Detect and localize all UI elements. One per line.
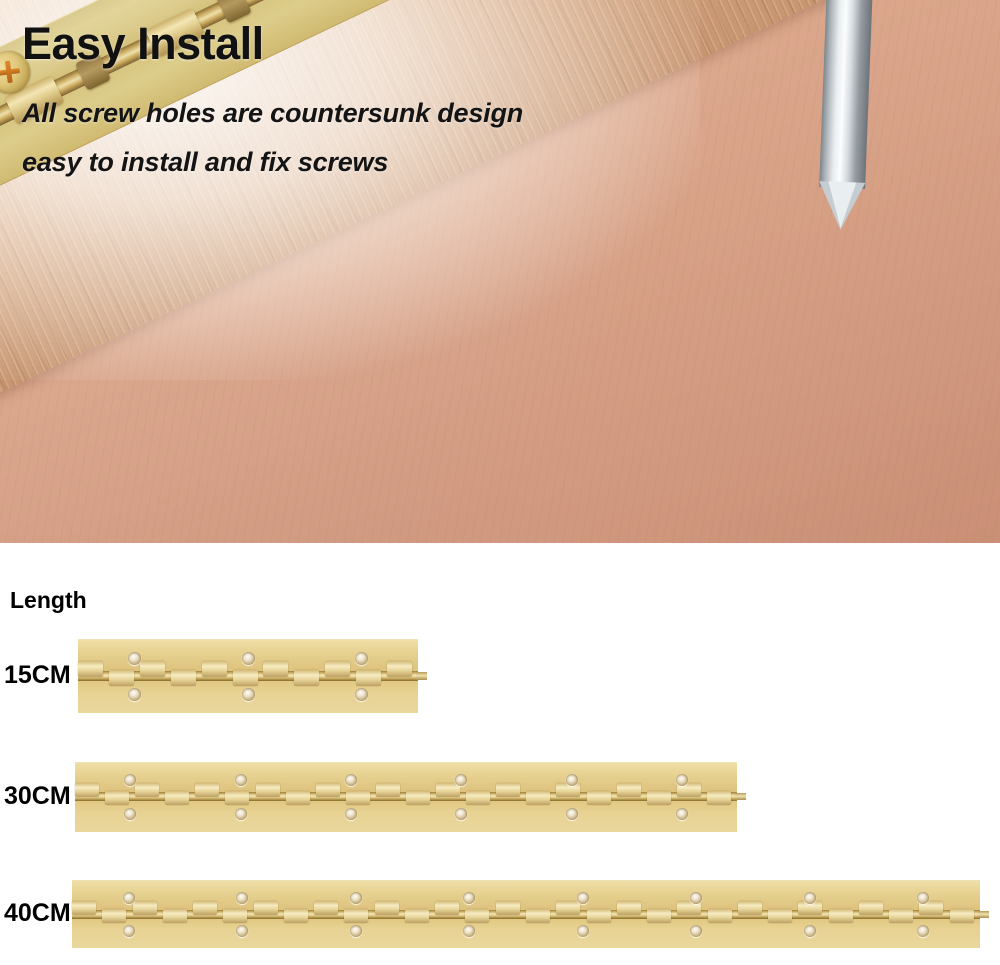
countersunk-screw-hole (577, 925, 589, 937)
hinge-knuckle (165, 791, 189, 805)
countersunk-screw-hole (676, 774, 688, 786)
hinge-knuckle (325, 661, 350, 677)
hinge-knuckle (102, 909, 126, 923)
screwdriver-icon (817, 0, 872, 233)
hinge-knuckle (163, 909, 187, 923)
countersunk-screw-hole (128, 688, 141, 701)
hinge-knuckle (193, 901, 217, 915)
hinge-knuckle (526, 791, 550, 805)
hinge-knuckle (617, 783, 641, 797)
countersunk-screw-hole (463, 925, 475, 937)
hinge-knuckle (436, 783, 460, 797)
hinge-pin-extension (735, 793, 746, 800)
countersunk-screw-hole (676, 808, 688, 820)
countersunk-screw-hole (566, 774, 578, 786)
product-photo-panel: Easy Install All screw holes are counter… (0, 0, 1000, 543)
hinge-knuckle (233, 670, 258, 686)
hinge-knuckle (465, 909, 489, 923)
hinge-knuckle (829, 909, 853, 923)
countersunk-screw-hole (690, 925, 702, 937)
hinge-specimen-40cm (72, 880, 980, 948)
hinge-knuckle (526, 909, 550, 923)
countersunk-screw-hole (236, 892, 248, 904)
hinge-knuckle (496, 783, 520, 797)
countersunk-screw-hole (124, 774, 136, 786)
countersunk-screw-hole (124, 808, 136, 820)
countersunk-screw-hole (566, 808, 578, 820)
countersunk-screw-hole (463, 892, 475, 904)
countersunk-screw-hole (350, 925, 362, 937)
hinge-knuckle (346, 791, 370, 805)
hinge-knuckle (223, 909, 247, 923)
countersunk-screw-hole (242, 652, 255, 665)
hinge-knuckle (406, 791, 430, 805)
length-row-label-40cm: 40CM (4, 899, 71, 928)
hinge-knuckle (314, 901, 338, 915)
countersunk-screw-hole (242, 688, 255, 701)
length-chart: Length 15CM30CM40CM (0, 543, 1000, 965)
hinge-specimen-30cm (75, 762, 737, 832)
countersunk-screw-hole (345, 774, 357, 786)
hinge-knuckle (889, 909, 913, 923)
screwdriver-shaft (819, 0, 872, 189)
hinge-knuckle (202, 661, 227, 677)
hinge-knuckle (256, 783, 280, 797)
page-title: Easy Install (22, 20, 264, 67)
hinge-knuckle (405, 909, 429, 923)
hinge-knuckle (738, 901, 762, 915)
countersunk-screw-hole (350, 892, 362, 904)
countersunk-screw-hole (455, 774, 467, 786)
hinge-knuckle (375, 901, 399, 915)
hinge-knuckle (294, 670, 319, 686)
length-row-label-30cm: 30CM (4, 782, 71, 811)
hinge-knuckle (140, 661, 165, 677)
countersunk-screw-hole (345, 808, 357, 820)
countersunk-screw-hole (235, 774, 247, 786)
countersunk-screw-hole (128, 652, 141, 665)
countersunk-screw-hole (123, 892, 135, 904)
hinge-knuckle (78, 661, 103, 677)
hinge-knuckle (133, 901, 157, 915)
hinge-knuckle (647, 791, 671, 805)
screwdriver-tip-highlight (827, 181, 857, 228)
hinge-knuckle (171, 670, 196, 686)
hinge-knuckle (587, 791, 611, 805)
countersunk-screw-hole (355, 688, 368, 701)
hinge-knuckle (356, 670, 381, 686)
hinge-knuckle (225, 791, 249, 805)
countersunk-screw-hole (236, 925, 248, 937)
hinge-knuckle (435, 901, 459, 915)
hinge-knuckle (284, 909, 308, 923)
hinge-knuckle (387, 661, 412, 677)
hinge-pin-extension (416, 672, 427, 680)
hinge-knuckle (556, 901, 580, 915)
hinge-knuckle (376, 783, 400, 797)
hinge-knuckle (105, 791, 129, 805)
countersunk-screw-hole (917, 925, 929, 937)
countersunk-screw-hole (690, 892, 702, 904)
countersunk-screw-hole (804, 892, 816, 904)
hinge-knuckle (316, 783, 340, 797)
hinge-knuckle (75, 783, 99, 797)
hinge-pin-extension (978, 911, 989, 918)
countersunk-screw-hole (577, 892, 589, 904)
countersunk-screw-hole (917, 892, 929, 904)
hinge-knuckle (109, 670, 134, 686)
product-infographic: Easy Install All screw holes are counter… (0, 0, 1000, 965)
countersunk-screw-hole (123, 925, 135, 937)
hinge-knuckle (496, 901, 520, 915)
hinge-specimen-15cm (78, 639, 418, 713)
length-chart-title: Length (10, 587, 87, 614)
hinge-knuckle (647, 909, 671, 923)
length-row-label-15cm: 15CM (4, 661, 71, 690)
countersunk-screw-hole (804, 925, 816, 937)
countersunk-screw-hole (355, 652, 368, 665)
subtitle-line-1: All screw holes are countersunk design (22, 98, 523, 129)
hinge-knuckle (263, 661, 288, 677)
hinge-knuckle (617, 901, 641, 915)
hinge-knuckle (195, 783, 219, 797)
subtitle-line-2: easy to install and fix screws (22, 147, 388, 178)
hinge-knuckle (72, 901, 96, 915)
hinge-knuckle (707, 791, 731, 805)
hinge-knuckle (708, 909, 732, 923)
hinge-knuckle (466, 791, 490, 805)
hinge-knuckle (344, 909, 368, 923)
hinge-knuckle (587, 909, 611, 923)
hinge-knuckle (254, 901, 278, 915)
hinge-knuckle (768, 909, 792, 923)
hinge-knuckle (286, 791, 310, 805)
hinge-knuckle (950, 909, 974, 923)
countersunk-screw-hole (235, 808, 247, 820)
hinge-knuckle (859, 901, 883, 915)
countersunk-screw-hole (455, 808, 467, 820)
hinge-knuckle (135, 783, 159, 797)
